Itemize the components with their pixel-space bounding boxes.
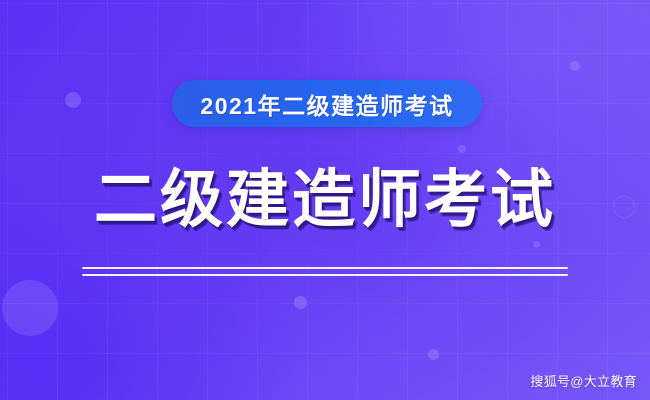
- divider-line-top: [82, 267, 568, 269]
- headline-container: 二级建造师考试: [0, 160, 650, 240]
- page-title: 二级建造师考试: [94, 160, 556, 240]
- watermark: 搜狐号@大立教育: [530, 371, 637, 390]
- divider-line-bottom: [82, 274, 568, 276]
- divider: [82, 267, 568, 276]
- year-badge-label: 2021年二级建造师考试: [200, 87, 453, 121]
- year-badge: 2021年二级建造师考试: [172, 80, 482, 127]
- promo-banner: 2021年二级建造师考试 二级建造师考试 搜狐号@大立教育: [0, 0, 650, 400]
